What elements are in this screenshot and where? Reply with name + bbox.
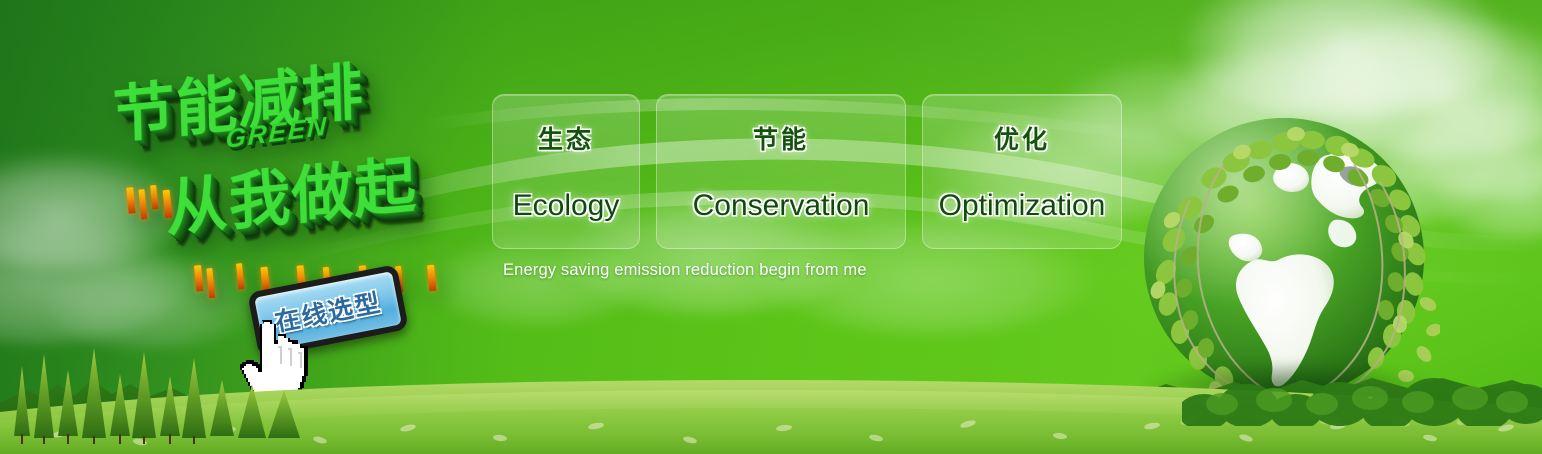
- card-ecology-en: Ecology: [513, 191, 620, 221]
- card-conservation[interactable]: 节能 Conservation: [656, 94, 906, 249]
- card-optimization-cn: 优化: [994, 128, 1050, 153]
- headline-line-2: 从我做起: [165, 134, 418, 248]
- green-banner: 节能减排 GREEN 从我做起 在线选型 生态 Ecology 节能 Conse…: [0, 0, 1542, 454]
- card-conservation-cn: 节能: [753, 128, 809, 153]
- headline-3d-art: 节能减排 GREEN 从我做起: [90, 24, 490, 289]
- card-ecology-cn: 生态: [538, 128, 594, 153]
- right-shrubs: [1182, 356, 1542, 426]
- card-optimization-en: Optimization: [939, 191, 1106, 221]
- ground-scenery: [0, 334, 1542, 454]
- conifer-trees: [0, 340, 330, 446]
- card-optimization[interactable]: 优化 Optimization: [922, 94, 1122, 249]
- tagline-text: Energy saving emission reduction begin f…: [503, 261, 867, 280]
- card-conservation-en: Conservation: [693, 191, 870, 221]
- card-ecology[interactable]: 生态 Ecology: [492, 94, 640, 249]
- feature-card-list: 生态 Ecology 节能 Conservation 优化 Optimizati…: [492, 94, 1122, 249]
